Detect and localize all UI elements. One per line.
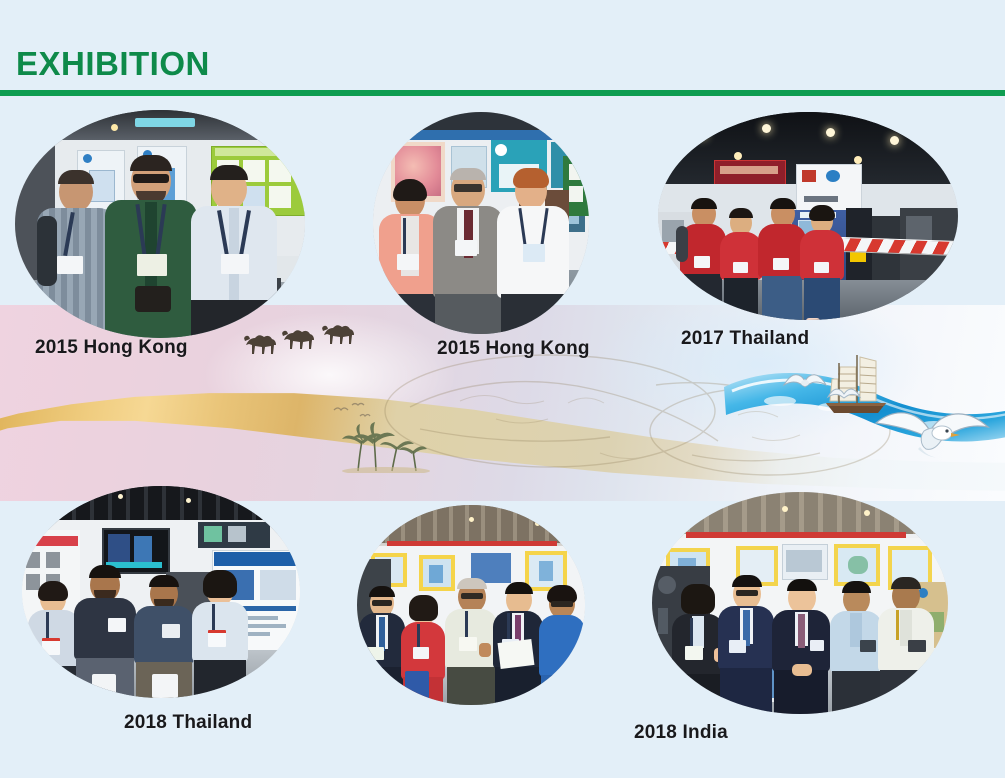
seagull-large-icon xyxy=(872,401,992,467)
gallery-photo-2017-thailand[interactable] xyxy=(658,112,958,320)
distant-birds-icon xyxy=(330,401,380,423)
title-underline-rule xyxy=(0,90,1005,96)
gallery-photo-2015-hong-kong-b[interactable] xyxy=(373,112,589,334)
seagull-icon xyxy=(826,383,862,403)
gallery-caption-2015-hong-kong-b: 2015 Hong Kong xyxy=(437,338,590,360)
page-header: EXHIBITION xyxy=(0,0,1005,100)
page-title: EXHIBITION xyxy=(16,47,210,80)
gallery-caption-2018-thailand: 2018 Thailand xyxy=(124,712,252,734)
gallery-caption-2015-hong-kong-a: 2015 Hong Kong xyxy=(35,337,188,359)
photo-scene xyxy=(15,110,305,338)
exhibition-page: EXHIBITION xyxy=(0,0,1005,778)
photo-scene xyxy=(652,492,948,714)
photo-scene xyxy=(658,112,958,320)
gallery-caption-2017-thailand: 2017 Thailand xyxy=(681,328,809,350)
gallery-photo-2018-india[interactable] xyxy=(652,492,948,714)
seagull-icon xyxy=(782,367,828,393)
gallery-photo-2018-thailand[interactable] xyxy=(22,486,300,698)
photo-scene xyxy=(22,486,300,698)
gallery-photo-2018-unlabeled[interactable] xyxy=(357,505,585,705)
gallery-photo-2015-hong-kong-a[interactable] xyxy=(15,110,305,338)
palm-tree-oasis-icon xyxy=(330,417,460,473)
photo-scene xyxy=(357,505,585,705)
photo-scene xyxy=(373,112,589,334)
gallery-caption-2018-india: 2018 India xyxy=(634,722,728,744)
